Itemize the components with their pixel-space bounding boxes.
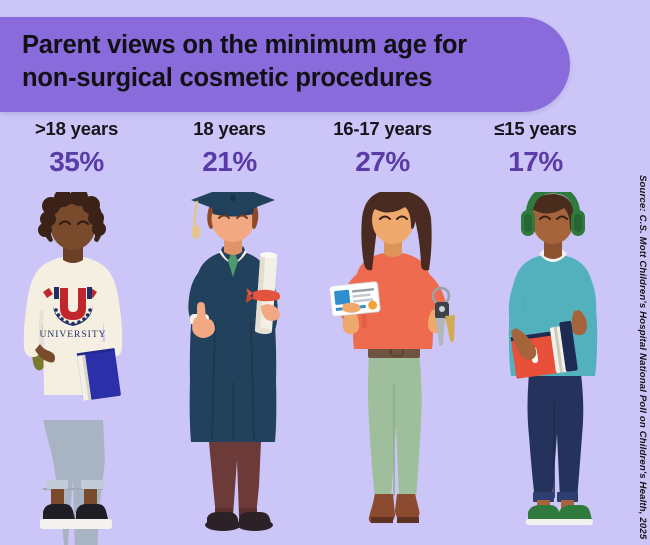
middle-schooler-figure <box>473 192 633 545</box>
header-bar: Parent views on the minimum age for non-… <box>0 17 570 112</box>
stat-column-2: 18 years 21% <box>153 120 306 192</box>
title-line-2: non-surgical cosmetic procedures <box>22 62 542 95</box>
stat-value: 21% <box>153 148 306 176</box>
stat-value: 35% <box>0 148 153 176</box>
stat-column-3: 16-17 years 27% <box>306 120 459 192</box>
figures-row: UNIVERSITY <box>0 192 612 545</box>
stat-label: ≤15 years <box>459 120 612 139</box>
stat-label: 18 years <box>153 120 306 139</box>
stat-column-4: ≤15 years 17% <box>459 120 612 192</box>
college-student-figure: UNIVERSITY <box>0 192 153 545</box>
svg-text:UNIVERSITY: UNIVERSITY <box>40 330 107 340</box>
stat-value: 17% <box>459 148 612 176</box>
graduate-figure <box>153 192 313 545</box>
stat-label: 16-17 years <box>306 120 459 139</box>
stats-row: >18 years 35% 18 years 21% 16-17 years 2… <box>0 120 612 192</box>
title-line-1: Parent views on the minimum age for <box>22 29 542 62</box>
infographic-canvas: Parent views on the minimum age for non-… <box>0 0 650 545</box>
page-title: Parent views on the minimum age for non-… <box>22 29 542 94</box>
teen-driver-figure <box>313 192 473 545</box>
stat-value: 27% <box>306 148 459 176</box>
stat-column-1: >18 years 35% <box>0 120 153 192</box>
stat-label: >18 years <box>0 120 153 139</box>
source-credit: Source: C.S. Mott Children's Hospital Na… <box>637 175 648 539</box>
